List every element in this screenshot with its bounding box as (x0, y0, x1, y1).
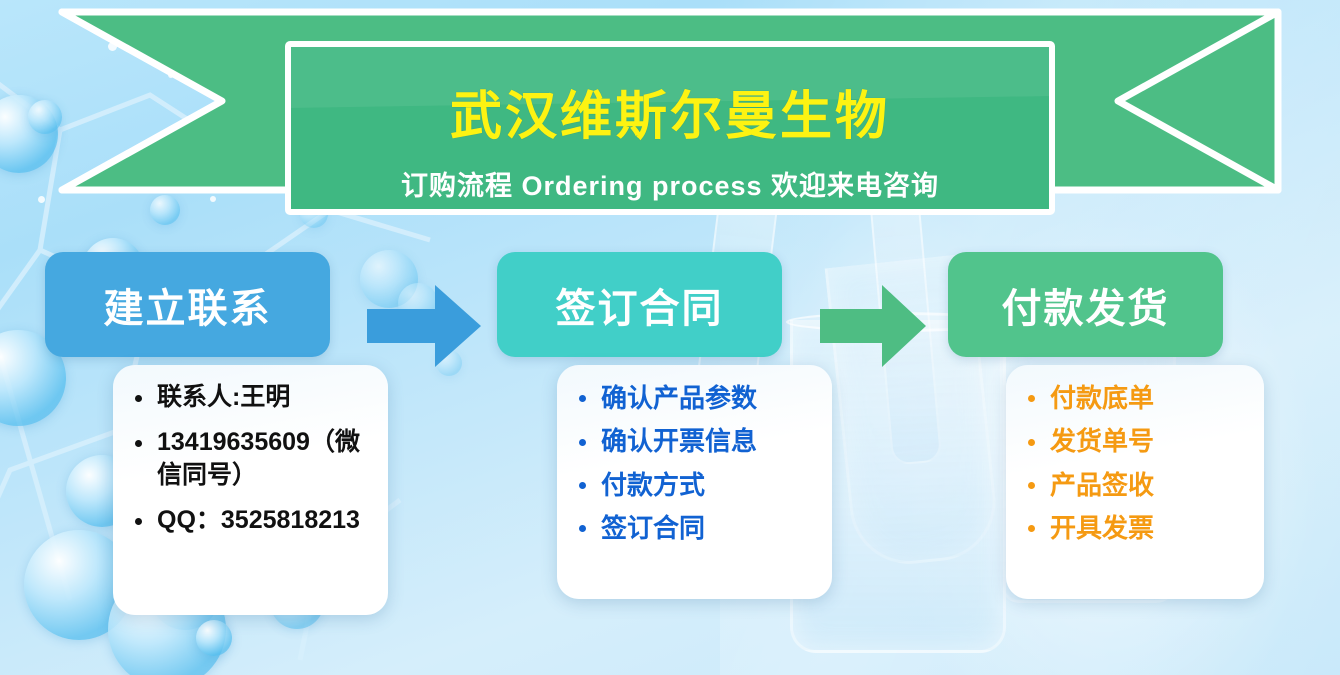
step2-body: 确认产品参数 确认开票信息 付款方式 签订合同 (557, 365, 832, 599)
step-card-establish-contact[interactable]: 建立联系 联系人:王明 13419635609（微信同号） QQ：3525818… (45, 252, 330, 357)
arrow-step1-to-step2 (365, 283, 483, 374)
list-item: 确认开票信息 (573, 424, 820, 458)
list-item: 付款方式 (573, 468, 820, 502)
step3-bullet-list: 付款底单 发货单号 产品签收 开具发票 (1022, 381, 1252, 545)
step1-bullet-list: 联系人:王明 13419635609（微信同号） QQ：3525818213 (129, 381, 376, 537)
step3-body: 付款底单 发货单号 产品签收 开具发票 (1006, 365, 1264, 599)
step2-header: 签订合同 (497, 252, 782, 357)
list-item: 产品签收 (1022, 468, 1252, 502)
banner-subtitle: 订购流程 Ordering process 欢迎来电咨询 (0, 164, 1340, 203)
list-item: QQ：3525818213 (129, 504, 376, 537)
step-card-payment-shipping[interactable]: 付款发货 付款底单 发货单号 产品签收 开具发票 (948, 252, 1223, 357)
list-item: 联系人:王明 (129, 381, 376, 414)
list-item: 发货单号 (1022, 424, 1252, 458)
list-item: 签订合同 (573, 511, 820, 545)
poster-canvas: 武汉维斯尔曼生物 订购流程 Ordering process 欢迎来电咨询 建立… (0, 0, 1340, 675)
list-item: 开具发票 (1022, 511, 1252, 545)
list-item: 13419635609（微信同号） (129, 426, 376, 492)
step-card-sign-contract[interactable]: 签订合同 确认产品参数 确认开票信息 付款方式 签订合同 (497, 252, 782, 357)
banner-ribbon: 武汉维斯尔曼生物 订购流程 Ordering process 欢迎来电咨询 (0, 0, 1340, 225)
bubble-graphic (196, 620, 232, 656)
step3-header: 付款发货 (948, 252, 1223, 357)
list-item: 付款底单 (1022, 381, 1252, 415)
step2-bullet-list: 确认产品参数 确认开票信息 付款方式 签订合同 (573, 381, 820, 545)
step1-body: 联系人:王明 13419635609（微信同号） QQ：3525818213 (113, 365, 388, 615)
banner-title: 武汉维斯尔曼生物 (0, 74, 1340, 149)
step1-header: 建立联系 (45, 252, 330, 357)
list-item: 确认产品参数 (573, 381, 820, 415)
arrow-step2-to-step3 (818, 283, 928, 374)
